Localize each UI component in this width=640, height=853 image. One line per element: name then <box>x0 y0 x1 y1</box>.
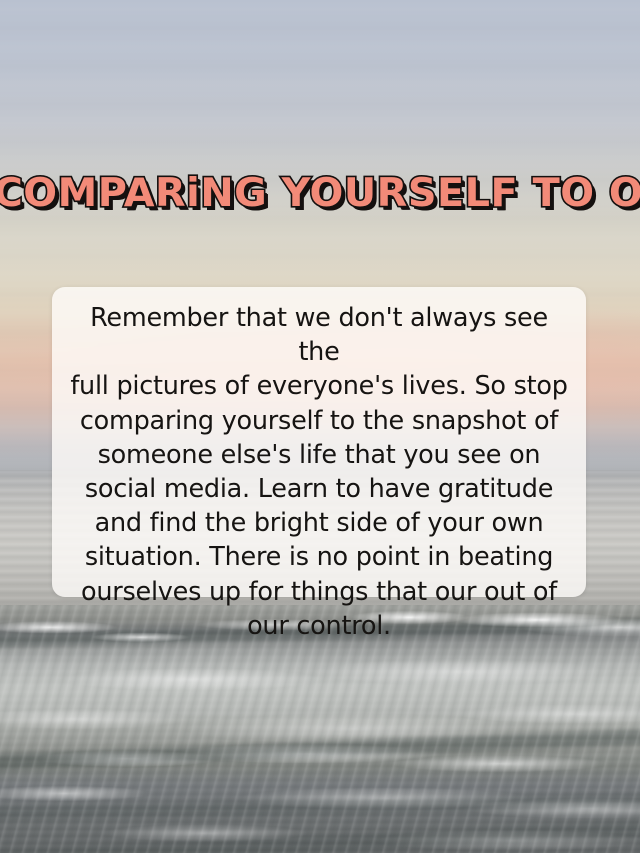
poster-title: COMPARiNG YOURSELF TO OTHERS! <box>0 172 640 216</box>
quote-poster: COMPARiNG YOURSELF TO OTHERS! Remember t… <box>0 0 640 853</box>
quote-card: Remember that we don't always see the fu… <box>52 287 586 597</box>
quote-body-text: Remember that we don't always see the fu… <box>68 301 570 643</box>
